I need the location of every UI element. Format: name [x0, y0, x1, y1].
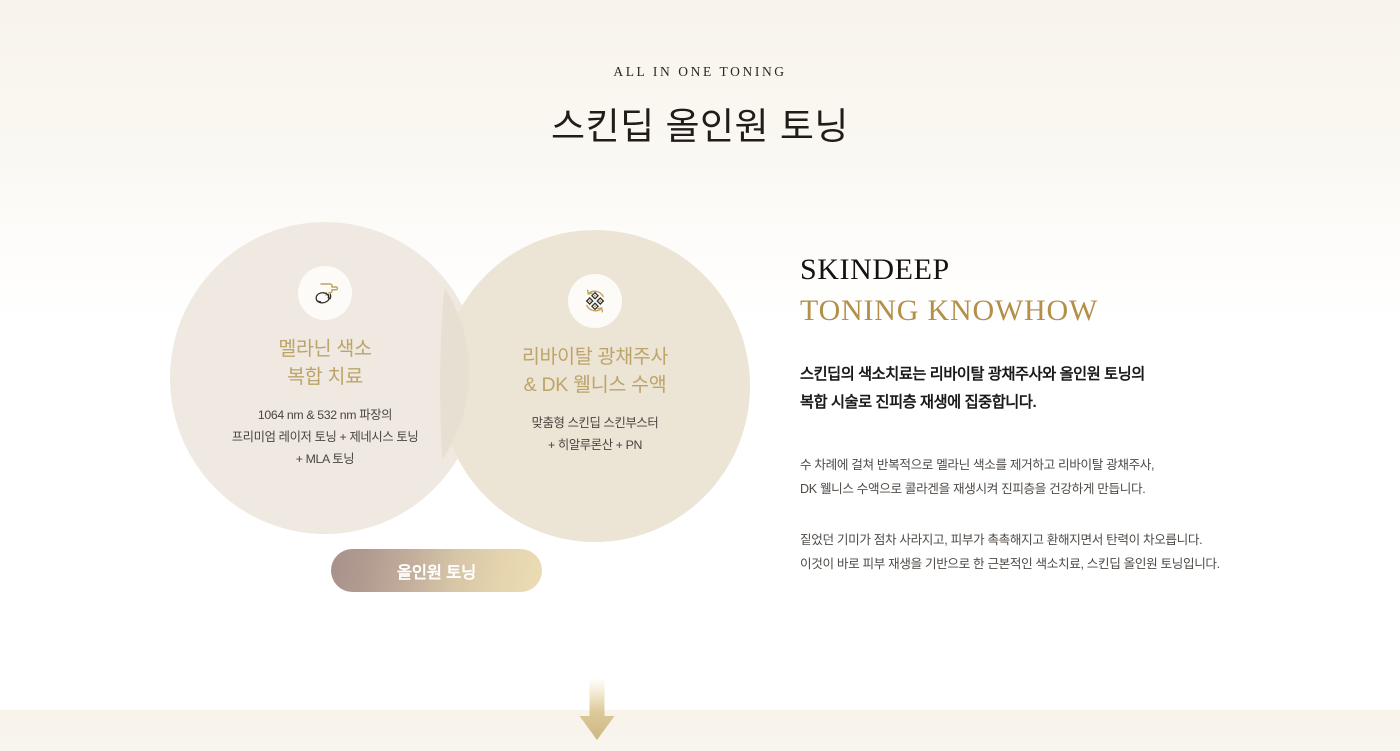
venn-right-title-line2: & DK 웰니스 수액 — [524, 374, 667, 396]
cell-regeneration-icon — [568, 274, 622, 328]
venn-right-sub-line1: 맞춤형 스킨딥 스킨부스터 — [532, 416, 659, 430]
venn-left-sub-line2: 프리미엄 레이저 토닝 + 제네시스 토닝 — [232, 430, 419, 444]
venn-left-title: 멜라닌 색소 복합 치료 — [170, 336, 480, 391]
all-in-one-toning-pill[interactable]: 올인원 토닝 — [331, 549, 542, 592]
lead-line1: 스킨딥의 색소치료는 리바이탈 광채주사와 올인원 토닝의 — [800, 366, 1145, 383]
venn-left-sub-line3: + MLA 토닝 — [296, 452, 354, 466]
page-title: 스킨딥 올인원 토닝 — [0, 96, 1400, 150]
p2-line2: 이것이 바로 피부 재생을 기반으로 한 근본적인 색소치료, 스킨딥 올인원 … — [800, 557, 1220, 571]
p1-line2: DK 웰니스 수액으로 콜라겐을 재생시켜 진피층을 건강하게 만듭니다. — [800, 482, 1145, 496]
brand-name: SKINDEEP — [800, 252, 1230, 289]
venn-left-subtext: 1064 nm & 532 nm 파장의 프리미엄 레이저 토닝 + 제네시스 … — [170, 405, 480, 471]
page-header: ALL IN ONE TONING 스킨딥 올인원 토닝 — [0, 0, 1400, 150]
lead-paragraph: 스킨딥의 색소치료는 리바이탈 광채주사와 올인원 토닝의 복합 시술로 진피층… — [800, 361, 1230, 416]
knowhow-panel: SKINDEEP TONING KNOWHOW 스킨딥의 색소치료는 리바이탈 … — [800, 252, 1230, 577]
p1-line1: 수 차례에 걸쳐 반복적으로 멜라닌 색소를 제거하고 리바이탈 광채주사, — [800, 458, 1154, 472]
pill-label: 올인원 토닝 — [397, 559, 476, 583]
venn-left-sub-line1: 1064 nm & 532 nm 파장의 — [258, 408, 392, 422]
venn-right-title-line1: 리바이탈 광채주사 — [522, 346, 668, 368]
lead-line2: 복합 시술로 진피층 재생에 집중합니다. — [800, 394, 1036, 411]
down-arrow-icon — [573, 678, 621, 746]
brand-tagline: TONING KNOWHOW — [800, 292, 1230, 330]
venn-right-title: 리바이탈 광채주사 & DK 웰니스 수액 — [440, 344, 750, 399]
venn-diagram: 멜라닌 색소 복합 치료 1064 nm & 532 nm 파장의 프리미엄 레… — [160, 208, 760, 608]
venn-left-title-line1: 멜라닌 색소 — [278, 338, 371, 360]
eyebrow-text: ALL IN ONE TONING — [0, 64, 1400, 80]
venn-circle-left: 멜라닌 색소 복합 치료 1064 nm & 532 nm 파장의 프리미엄 레… — [170, 222, 480, 534]
venn-circle-right: 리바이탈 광채주사 & DK 웰니스 수액 맞춤형 스킨딥 스킨부스터 + 히알… — [440, 230, 750, 542]
venn-left-title-line2: 복합 치료 — [287, 366, 363, 388]
body-paragraph-1: 수 차례에 걸쳐 반복적으로 멜라닌 색소를 제거하고 리바이탈 광채주사, D… — [800, 453, 1230, 502]
venn-right-sub-line2: + 히알루론산 + PN — [548, 438, 642, 452]
body-paragraph-2: 짙었던 기미가 점차 사라지고, 피부가 촉촉해지고 환해지면서 탄력이 차오릅… — [800, 528, 1230, 577]
laser-handpiece-face-icon — [298, 266, 352, 320]
p2-line1: 짙었던 기미가 점차 사라지고, 피부가 촉촉해지고 환해지면서 탄력이 차오릅… — [800, 533, 1202, 547]
venn-right-subtext: 맞춤형 스킨딥 스킨부스터 + 히알루론산 + PN — [440, 413, 750, 457]
